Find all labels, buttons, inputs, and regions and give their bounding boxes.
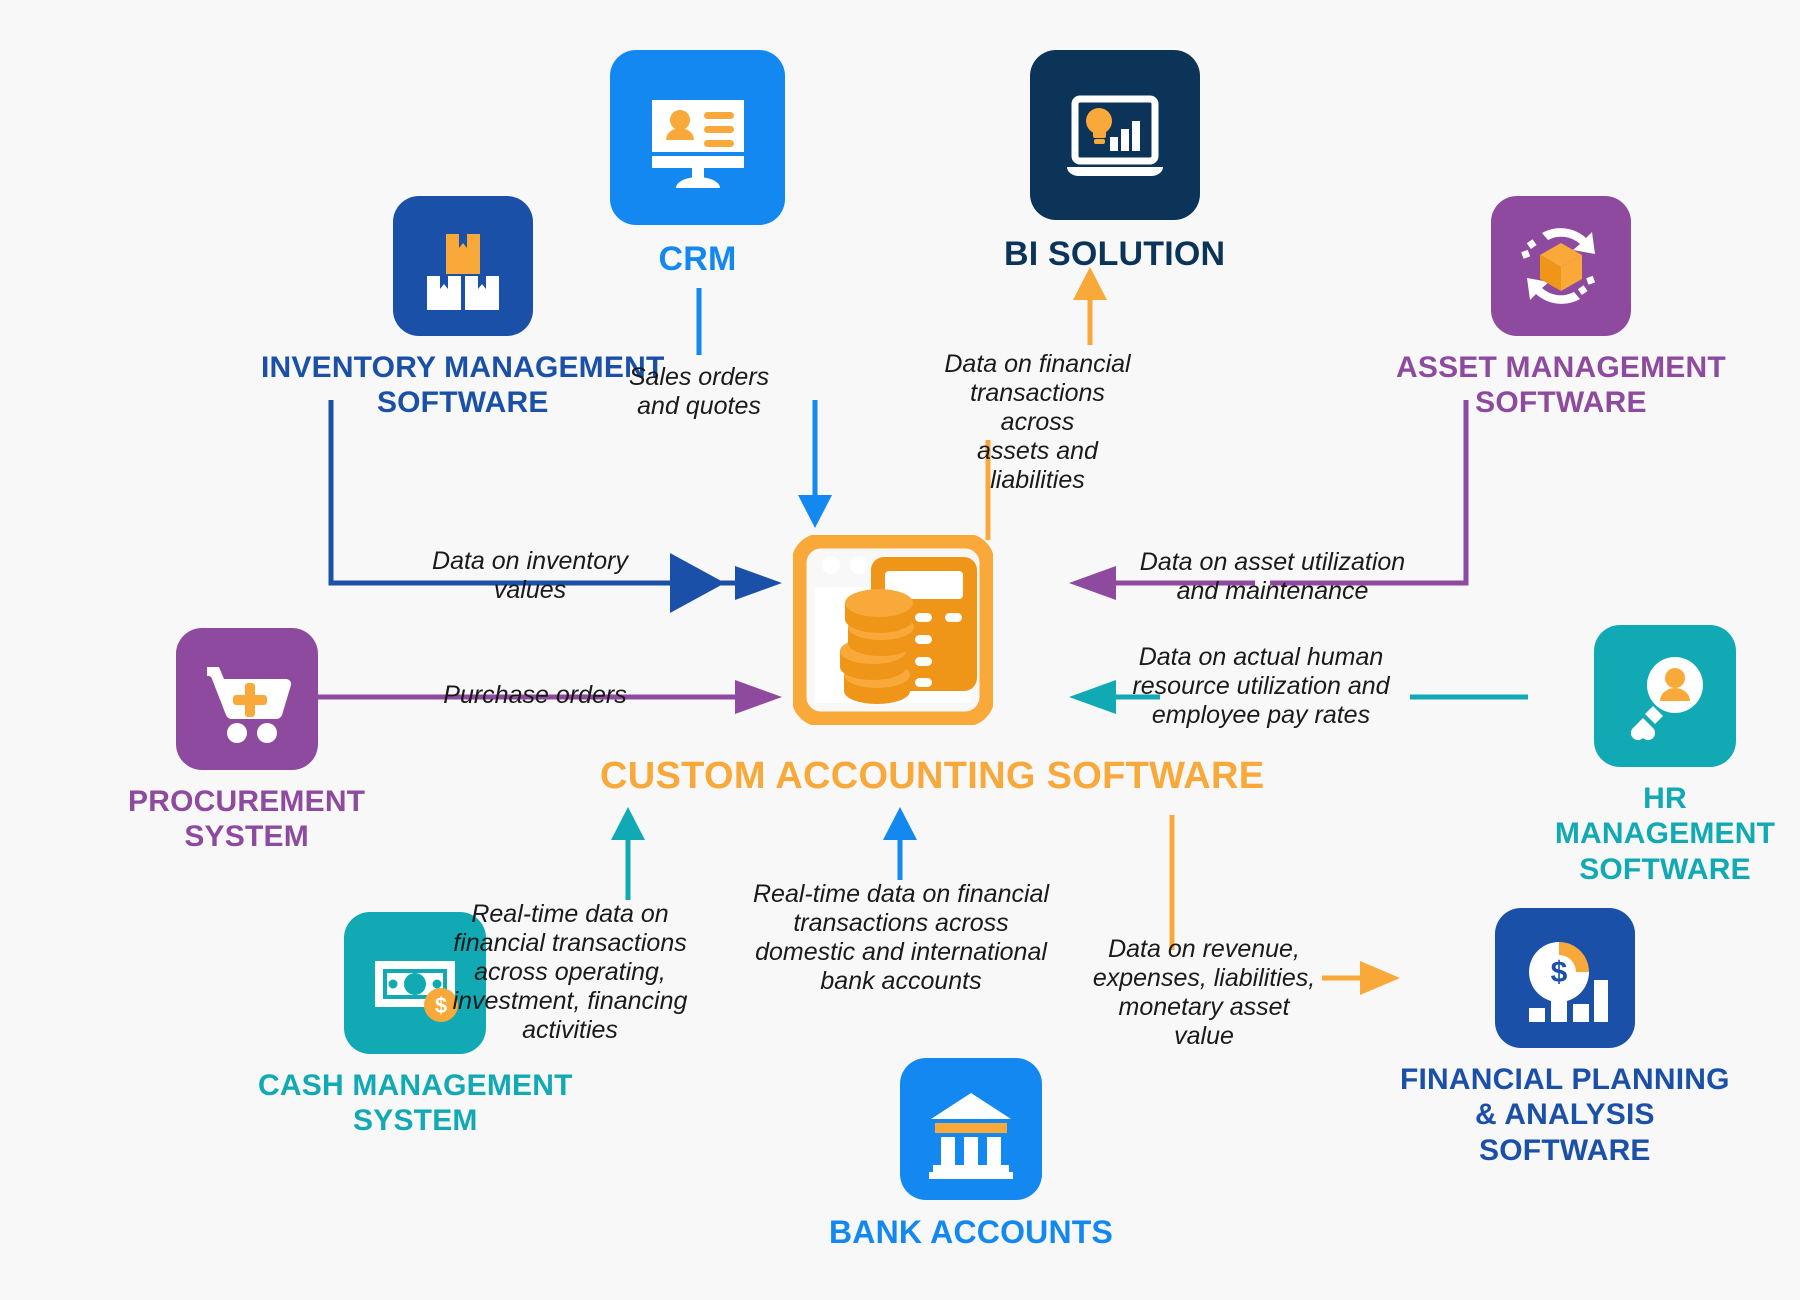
edge-label-line2: transactions across — [734, 909, 1068, 938]
node-label-bi: BI SOLUTION — [1004, 234, 1225, 274]
edge-label-procurement: Purchase orders — [430, 681, 640, 710]
node-label-line2: SOFTWARE — [1396, 385, 1726, 420]
node-hr-management[interactable]: HR MANAGEMENT SOFTWARE — [1530, 625, 1800, 887]
bank-building-icon — [900, 1058, 1042, 1200]
node-label-line1: BI SOLUTION — [1004, 234, 1225, 274]
edge-label-line5: activities — [443, 1016, 697, 1045]
node-asset-management[interactable]: ASSET MANAGEMENT SOFTWARE — [1396, 196, 1726, 421]
monitor-contact-icon — [610, 50, 785, 225]
node-bank-accounts[interactable]: BANK ACCOUNTS — [829, 1058, 1113, 1252]
node-label-procurement: PROCUREMENT SYSTEM — [128, 784, 365, 855]
edge-label-line1: Data on asset utilization — [1135, 548, 1410, 577]
edge-label-line3: monetary asset value — [1090, 993, 1318, 1051]
accounting-calculator-coins-icon — [793, 535, 993, 725]
center-title: CUSTOM ACCOUNTING SOFTWARE — [600, 755, 1264, 798]
edge-bank-to-center — [883, 807, 917, 880]
edge-label-line2: transactions across — [930, 379, 1145, 437]
edge-label-crm: Sales orders and quotes — [586, 363, 812, 421]
node-label-crm: CRM — [658, 239, 736, 279]
edge-label-line1: Real-time data on — [443, 900, 697, 929]
node-bi-solution[interactable]: BI SOLUTION — [1004, 50, 1225, 274]
edge-label-line1: Purchase orders — [430, 681, 640, 710]
edge-label-line1: Real-time data on financial — [734, 880, 1068, 909]
node-label-line1: CRM — [658, 239, 736, 279]
node-label-fpa: FINANCIAL PLANNING & ANALYSIS SOFTWARE — [1400, 1062, 1730, 1168]
node-label-line2: SYSTEM — [128, 819, 365, 854]
node-label-line1: CASH MANAGEMENT — [258, 1068, 573, 1103]
cube-refresh-icon — [1491, 196, 1631, 336]
edge-label-asset: Data on asset utilization and maintenanc… — [1135, 548, 1410, 606]
edge-label-bi: Data on financial transactions across as… — [930, 350, 1145, 495]
node-label-line1: PROCUREMENT — [128, 784, 365, 819]
node-label-line1: FINANCIAL PLANNING — [1400, 1062, 1730, 1097]
node-label-line1: BANK ACCOUNTS — [829, 1214, 1113, 1252]
edge-label-line2: expenses, liabilities, — [1090, 964, 1318, 993]
node-crm[interactable]: CRM — [610, 50, 785, 279]
edge-label-line1: Sales orders — [586, 363, 812, 392]
node-label-line1: HR MANAGEMENT — [1530, 781, 1800, 852]
donut-chart-dollar-icon: $ — [1495, 908, 1635, 1048]
edge-label-line1: Data on actual human — [1125, 643, 1397, 672]
edge-label-line2: resource utilization and — [1125, 672, 1397, 701]
edge-label-line3: employee pay rates — [1125, 701, 1397, 730]
edge-label-line2: and quotes — [586, 392, 812, 421]
node-label-line3: SOFTWARE — [1400, 1133, 1730, 1168]
edge-label-line1: Data on revenue, — [1090, 935, 1318, 964]
edge-label-line4: bank accounts — [734, 967, 1068, 996]
edge-label-cash: Real-time data on financial transactions… — [443, 900, 697, 1045]
edge-label-line3: assets and liabilities — [930, 437, 1145, 495]
edge-label-line2: financial transactions — [443, 929, 697, 958]
node-label-line2: & ANALYSIS — [1400, 1097, 1730, 1132]
edge-label-line1: Data on financial — [930, 350, 1145, 379]
edge-label-line2: and maintenance — [1135, 577, 1410, 606]
edge-label-hr: Data on actual human resource utilizatio… — [1125, 643, 1397, 730]
node-label-hr: HR MANAGEMENT SOFTWARE — [1530, 781, 1800, 887]
node-label-line2: SYSTEM — [258, 1103, 573, 1138]
node-center-accounting[interactable] — [793, 535, 993, 725]
edge-label-line1: Data on inventory — [425, 547, 635, 576]
node-procurement-system[interactable]: PROCUREMENT SYSTEM — [128, 628, 365, 855]
diagram-canvas: CUSTOM ACCOUNTING SOFTWARE INVENTORY MAN… — [0, 0, 1800, 1300]
edge-label-line3: across operating, — [443, 958, 697, 987]
magnifier-person-icon — [1594, 625, 1736, 767]
node-label-bank: BANK ACCOUNTS — [829, 1214, 1113, 1252]
node-label-asset: ASSET MANAGEMENT SOFTWARE — [1396, 350, 1726, 421]
node-label-line2: SOFTWARE — [1530, 852, 1800, 887]
node-label-cash: CASH MANAGEMENT SYSTEM — [258, 1068, 573, 1139]
edge-label-line4: investment, financing — [443, 987, 697, 1016]
edge-label-bank: Real-time data on financial transactions… — [734, 880, 1068, 996]
edge-label-inventory: Data on inventory values — [425, 547, 635, 605]
shopping-cart-plus-icon — [176, 628, 318, 770]
edge-label-line2: values — [425, 576, 635, 605]
laptop-lightbulb-chart-icon — [1030, 50, 1200, 220]
svg-text:$: $ — [1551, 956, 1568, 989]
node-label-line1: ASSET MANAGEMENT — [1396, 350, 1726, 385]
boxes-stack-icon — [393, 196, 533, 336]
node-financial-planning[interactable]: $ FINANCIAL PLANNING & ANALYSIS SOFTWARE — [1400, 908, 1730, 1168]
edge-label-line3: domestic and international — [734, 938, 1068, 967]
edge-label-fpa: Data on revenue, expenses, liabilities, … — [1090, 935, 1318, 1051]
